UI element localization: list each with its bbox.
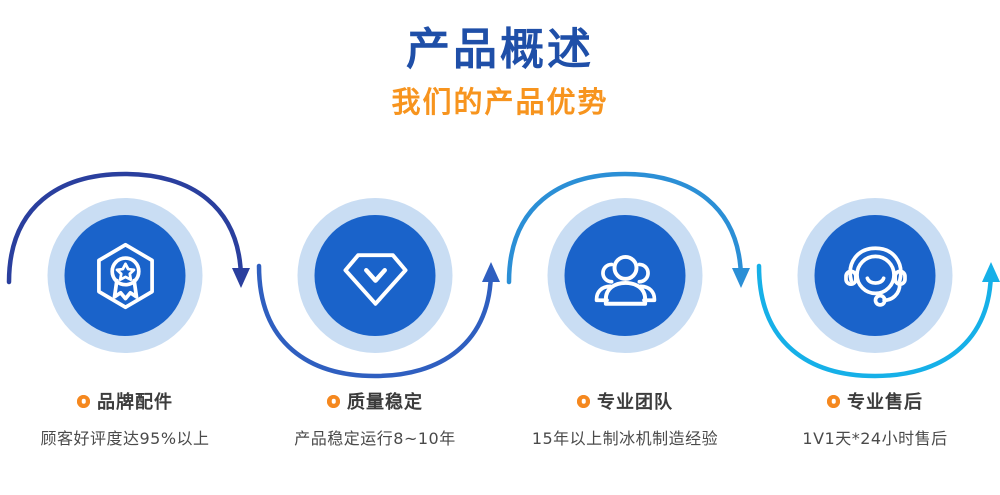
feature-title-row: 质量稳定 bbox=[250, 388, 500, 414]
team-people-icon bbox=[588, 239, 662, 313]
feature-description: 1V1天*24小时售后 bbox=[750, 425, 1000, 449]
product-overview-banner: 产品概述 我们的产品优势 bbox=[0, 0, 1000, 495]
headset-support-icon bbox=[838, 239, 912, 313]
feature-title: 质量稳定 bbox=[347, 388, 423, 414]
diamond-check-icon bbox=[338, 239, 412, 313]
bullet-dot-icon bbox=[577, 395, 590, 408]
feature-badge bbox=[250, 168, 500, 384]
feature-caption: 品牌配件 顾客好评度达95%以上 bbox=[0, 388, 250, 449]
bullet-dot-icon bbox=[77, 395, 90, 408]
feature-caption: 专业团队 15年以上制冰机制造经验 bbox=[500, 388, 750, 449]
feature-list: 品牌配件 顾客好评度达95%以上 bbox=[0, 168, 1000, 449]
feature-title: 专业团队 bbox=[597, 388, 673, 414]
badge-star-hexagon-icon bbox=[88, 239, 162, 313]
feature-description: 产品稳定运行8~10年 bbox=[250, 425, 500, 449]
icon-circle bbox=[565, 215, 686, 336]
feature-title-row: 专业售后 bbox=[750, 388, 1000, 414]
feature-caption: 专业售后 1V1天*24小时售后 bbox=[750, 388, 1000, 449]
feature-item-team: 专业团队 15年以上制冰机制造经验 bbox=[500, 168, 750, 449]
page-subtitle: 我们的产品优势 bbox=[0, 84, 1000, 120]
icon-circle bbox=[815, 215, 936, 336]
feature-caption: 质量稳定 产品稳定运行8~10年 bbox=[250, 388, 500, 449]
header: 产品概述 我们的产品优势 bbox=[0, 0, 1000, 120]
feature-item-support: 专业售后 1V1天*24小时售后 bbox=[750, 168, 1000, 449]
feature-badge bbox=[750, 168, 1000, 384]
feature-title-row: 专业团队 bbox=[500, 388, 750, 414]
feature-description: 顾客好评度达95%以上 bbox=[0, 425, 250, 449]
feature-item-brand-parts: 品牌配件 顾客好评度达95%以上 bbox=[0, 168, 250, 449]
bullet-dot-icon bbox=[827, 395, 840, 408]
icon-circle bbox=[65, 215, 186, 336]
feature-title: 专业售后 bbox=[847, 388, 923, 414]
feature-badge bbox=[0, 168, 250, 384]
feature-badge bbox=[500, 168, 750, 384]
feature-title-row: 品牌配件 bbox=[0, 388, 250, 414]
feature-item-quality: 质量稳定 产品稳定运行8~10年 bbox=[250, 168, 500, 449]
feature-description: 15年以上制冰机制造经验 bbox=[500, 425, 750, 449]
page-title: 产品概述 bbox=[0, 24, 1000, 76]
bullet-dot-icon bbox=[327, 395, 340, 408]
feature-title: 品牌配件 bbox=[97, 388, 173, 414]
icon-circle bbox=[315, 215, 436, 336]
